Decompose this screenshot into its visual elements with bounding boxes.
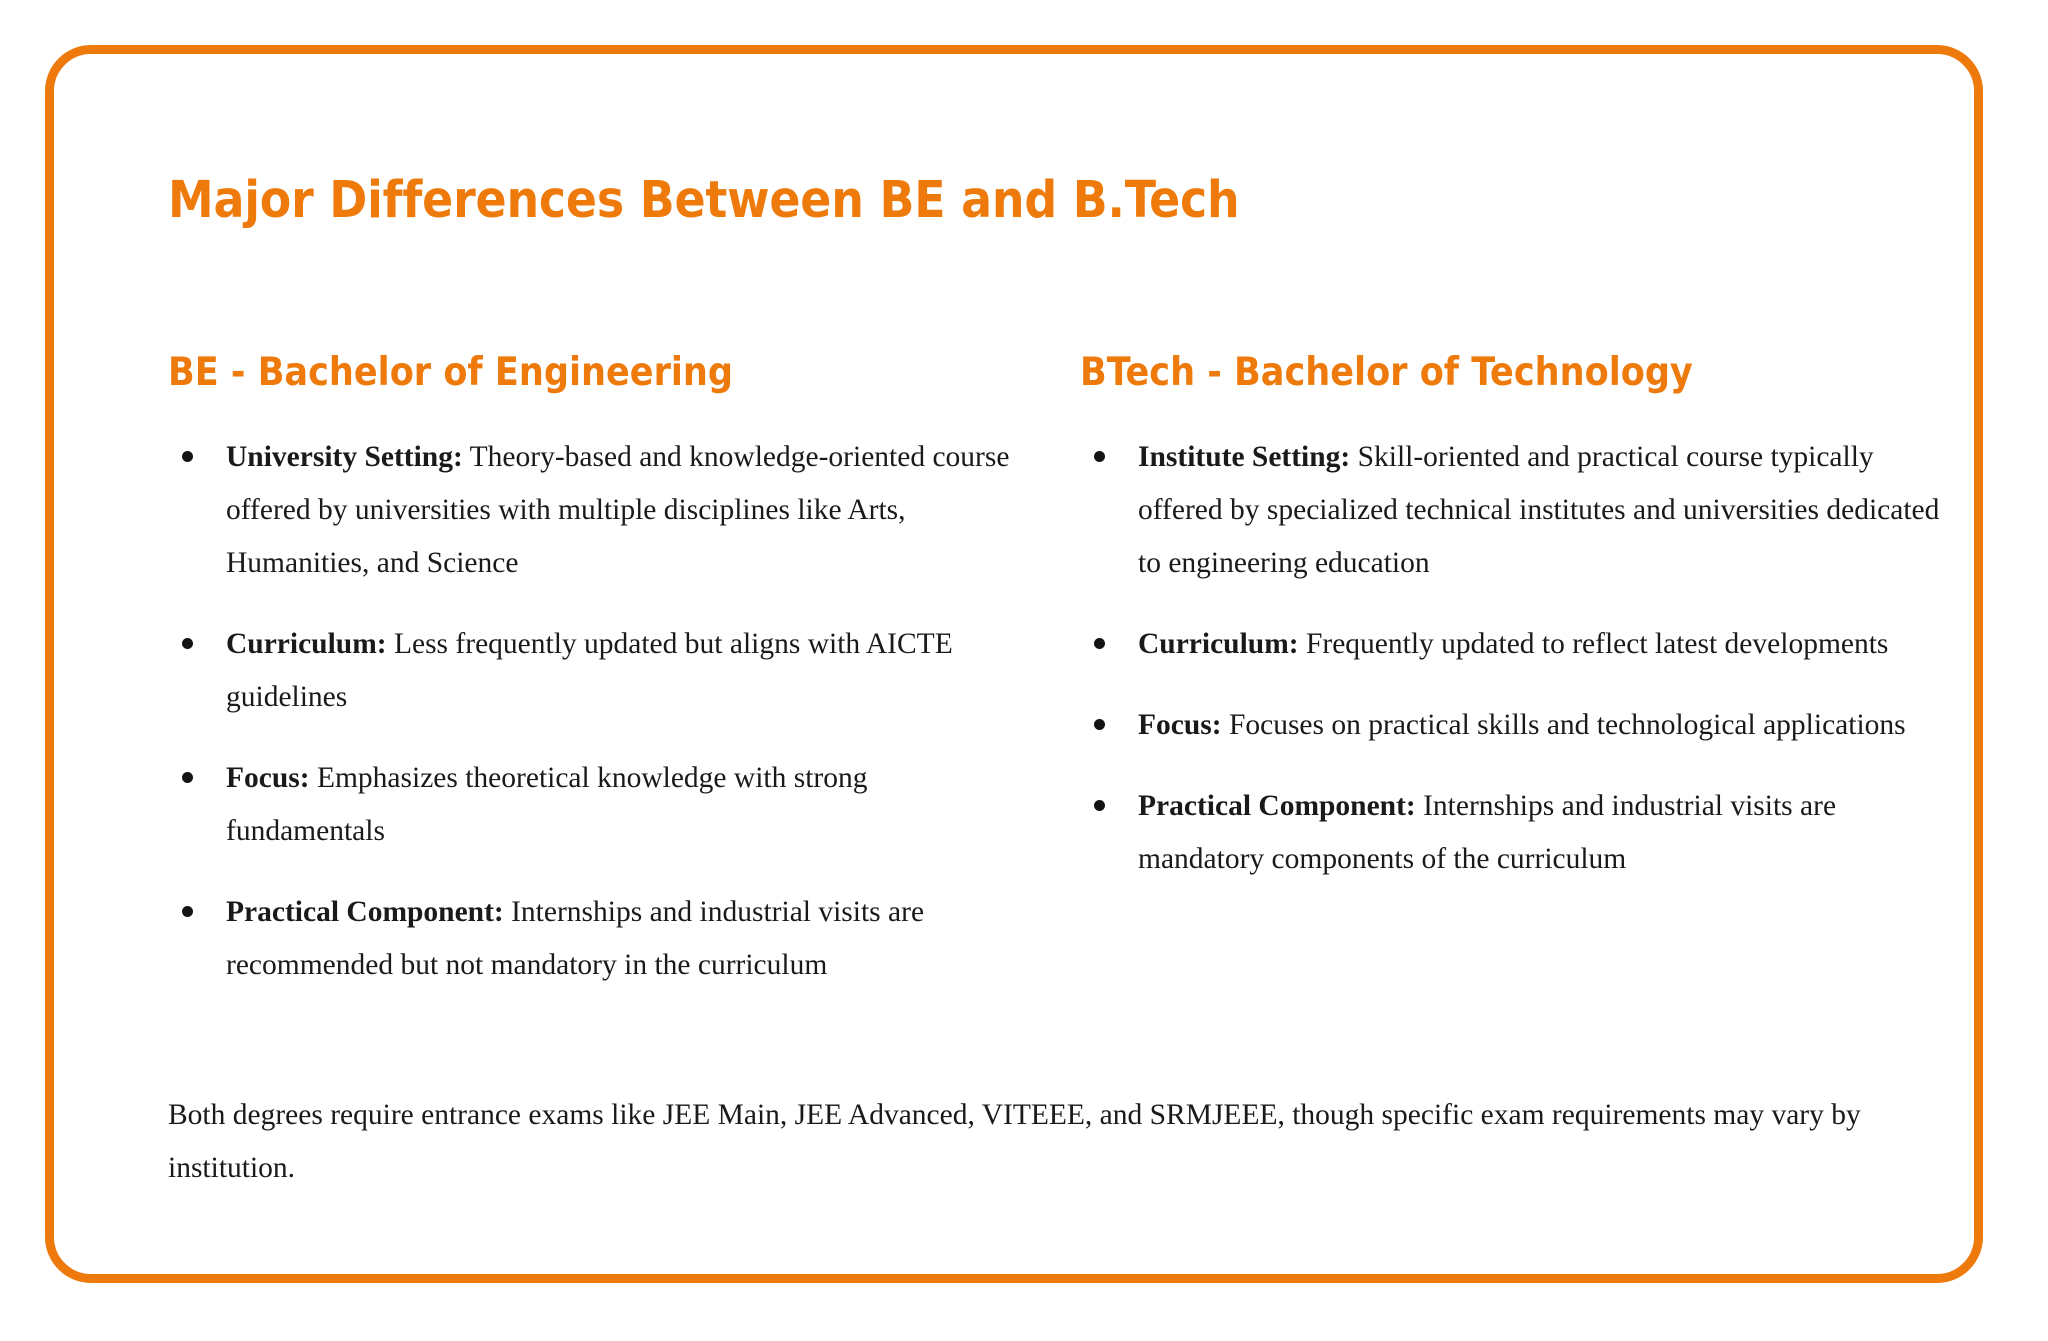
- bullet-dot-icon: [182, 772, 193, 783]
- bullet-list-be: University Setting: Theory-based and kno…: [168, 431, 1028, 992]
- column-heading-btech: BTech - Bachelor of Technology: [1080, 350, 1960, 395]
- bullet-text: Focuses on practical skills and technolo…: [1222, 709, 1906, 741]
- page-title: Major Differences Between BE and B.Tech: [168, 171, 1239, 230]
- bullet-lead: Curriculum:: [226, 628, 387, 660]
- bullet-lead: Institute Setting:: [1138, 441, 1350, 473]
- bullet-lead: University Setting:: [226, 441, 463, 473]
- bullet-lead: Focus:: [226, 762, 310, 794]
- card-content: Major Differences Between BE and B.Tech …: [54, 54, 1974, 1274]
- footnote-text: Both degrees require entrance exams like…: [168, 1089, 1868, 1195]
- bullet-dot-icon: [1094, 800, 1105, 811]
- list-item: Curriculum: Less frequently updated but …: [168, 618, 1028, 724]
- bullet-lead: Practical Component:: [1138, 790, 1416, 822]
- bullet-dot-icon: [1094, 451, 1105, 462]
- bullet-lead: Practical Component:: [226, 896, 504, 928]
- list-item: Practical Component: Internships and ind…: [168, 886, 1028, 992]
- bullet-dot-icon: [1094, 719, 1105, 730]
- bullet-text: Frequently updated to reflect latest dev…: [1299, 628, 1889, 660]
- list-item: Focus: Emphasizes theoretical knowledge …: [168, 752, 1028, 858]
- bullet-lead: Focus:: [1138, 709, 1222, 741]
- column-heading-be: BE - Bachelor of Engineering: [168, 350, 1028, 395]
- bullet-dot-icon: [182, 638, 193, 649]
- comparison-card: Major Differences Between BE and B.Tech …: [45, 45, 1983, 1283]
- list-item: Practical Component: Internships and ind…: [1080, 780, 1960, 886]
- list-item: Institute Setting: Skill-oriented and pr…: [1080, 431, 1960, 590]
- bullet-lead: Curriculum:: [1138, 628, 1299, 660]
- column-btech: BTech - Bachelor of Technology Institute…: [1080, 350, 1960, 886]
- bullet-text: Emphasizes theoretical knowledge with st…: [226, 762, 867, 847]
- bullet-dot-icon: [182, 906, 193, 917]
- bullet-dot-icon: [182, 451, 193, 462]
- list-item: University Setting: Theory-based and kno…: [168, 431, 1028, 590]
- column-be: BE - Bachelor of Engineering University …: [168, 350, 1028, 992]
- bullet-list-btech: Institute Setting: Skill-oriented and pr…: [1080, 431, 1960, 886]
- list-item: Focus: Focuses on practical skills and t…: [1080, 699, 1960, 752]
- list-item: Curriculum: Frequently updated to reflec…: [1080, 618, 1960, 671]
- bullet-dot-icon: [1094, 638, 1105, 649]
